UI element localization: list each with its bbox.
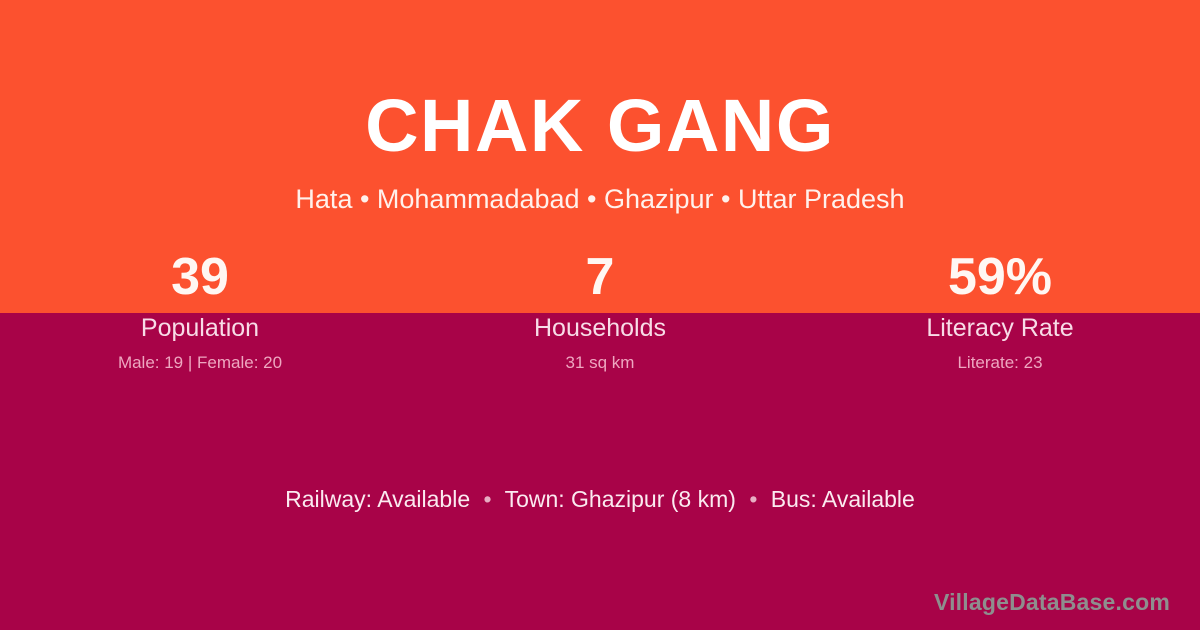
railway-info: Railway: Available	[285, 486, 470, 512]
stat-value: 59%	[800, 246, 1200, 308]
village-info-card: CHAK GANG Hata • Mohammadabad • Ghazipur…	[0, 0, 1200, 630]
stat-value: 39	[0, 246, 400, 308]
stat-label: Population	[0, 313, 400, 343]
village-title: CHAK GANG	[0, 78, 1200, 174]
location-breadcrumb: Hata • Mohammadabad • Ghazipur • Uttar P…	[0, 181, 1200, 217]
amenities-line: Railway: Available • Town: Ghazipur (8 k…	[0, 484, 1200, 515]
separator-dot: •	[477, 486, 499, 512]
stat-population: 39 Population Male: 19 | Female: 20	[0, 246, 400, 373]
stats-row: 39 Population Male: 19 | Female: 20 7 Ho…	[0, 246, 1200, 373]
stat-sublabel: 31 sq km	[400, 352, 800, 373]
site-brand: VillageDataBase.com	[934, 588, 1170, 616]
bus-info: Bus: Available	[771, 486, 915, 512]
stat-literacy-rate: 59% Literacy Rate Literate: 23	[800, 246, 1200, 373]
stat-value: 7	[400, 246, 800, 308]
nearest-town-info: Town: Ghazipur (8 km)	[505, 486, 736, 512]
stat-households: 7 Households 31 sq km	[400, 246, 800, 373]
stat-sublabel: Literate: 23	[800, 352, 1200, 373]
stat-label: Literacy Rate	[800, 313, 1200, 343]
stat-sublabel: Male: 19 | Female: 20	[0, 352, 400, 373]
stat-label: Households	[400, 313, 800, 343]
separator-dot: •	[742, 486, 764, 512]
